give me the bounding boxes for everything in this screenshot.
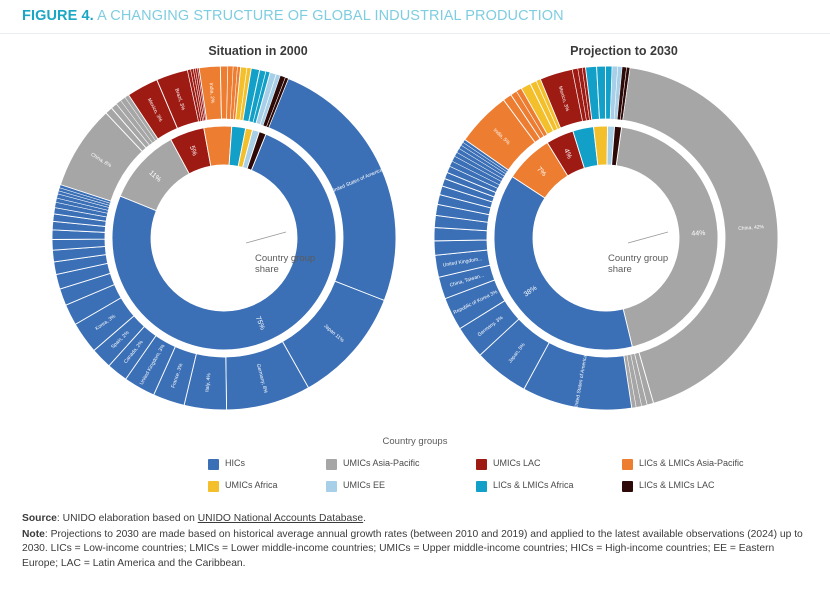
legend-label: LICs & LMICs Asia-Pacific [639, 458, 744, 469]
figure-number: FIGURE 4. [22, 8, 94, 24]
legend: HICsUMICs Asia-PacificUMICs LACLICs & LM… [208, 458, 748, 502]
leader-line [628, 232, 668, 243]
center-label-left: Country group share [255, 253, 315, 275]
legend-swatch [622, 481, 633, 492]
legend-label: UMICs LAC [493, 458, 541, 469]
legend-label: LICs & LMICs Africa [493, 480, 574, 491]
slice-label: 44% [691, 230, 705, 238]
source-label: Source [22, 513, 57, 524]
legend-item[interactable]: LICs & LMICs Asia-Pacific [622, 458, 762, 480]
figure-title: FIGURE 4. A CHANGING STRUCTURE OF GLOBAL… [22, 8, 564, 24]
legend-item[interactable]: UMICs Africa [208, 480, 326, 502]
legend-swatch [208, 459, 219, 470]
figure-title-text: A CHANGING STRUCTURE OF GLOBAL INDUSTRIA… [97, 8, 564, 24]
legend-label: HICs [225, 458, 245, 469]
panel-title-right: Projection to 2030 [474, 44, 774, 58]
legend-swatch [622, 459, 633, 470]
legend-swatch [476, 481, 487, 492]
legend-item[interactable]: UMICs LAC [476, 458, 622, 480]
donut-chart-projection-2030: 44%38%7%4%China, 42%United States of Ame… [430, 62, 782, 434]
source-line: Source: UNIDO elaboration based on UNIDO… [22, 512, 812, 527]
legend-swatch [476, 459, 487, 470]
legend-item[interactable]: UMICs EE [326, 480, 476, 502]
title-divider [0, 33, 830, 34]
legend-label: LICs & LMICs LAC [639, 480, 715, 491]
legend-swatch [208, 481, 219, 492]
legend-item[interactable]: LICs & LMICs Africa [476, 480, 622, 502]
legend-item[interactable]: LICs & LMICs LAC [622, 480, 762, 502]
source-link[interactable]: UNIDO National Accounts Database [198, 513, 363, 524]
legend-item[interactable]: HICs [208, 458, 326, 480]
legend-label: UMICs Asia-Pacific [343, 458, 420, 469]
leader-line [246, 232, 286, 243]
legend-swatch [326, 481, 337, 492]
legend-label: UMICs Africa [225, 480, 278, 491]
center-label-right: Country group share [608, 253, 668, 275]
footer-notes: Source: UNIDO elaboration based on UNIDO… [22, 512, 812, 572]
legend-heading: Country groups [0, 436, 830, 447]
note-line: Note: Projections to 2030 are made based… [22, 528, 812, 572]
donut-chart-situation-2000: 75%11%5%United States of America, Japan … [48, 62, 400, 434]
note-label: Note [22, 529, 45, 540]
source-text: : UNIDO elaboration based on [57, 513, 198, 524]
legend-swatch [326, 459, 337, 470]
legend-label: UMICs EE [343, 480, 385, 491]
source-end: . [363, 513, 366, 524]
panel-title-left: Situation in 2000 [108, 44, 408, 58]
note-text: : Projections to 2030 are made based on … [22, 529, 803, 569]
legend-item[interactable]: UMICs Asia-Pacific [326, 458, 476, 480]
